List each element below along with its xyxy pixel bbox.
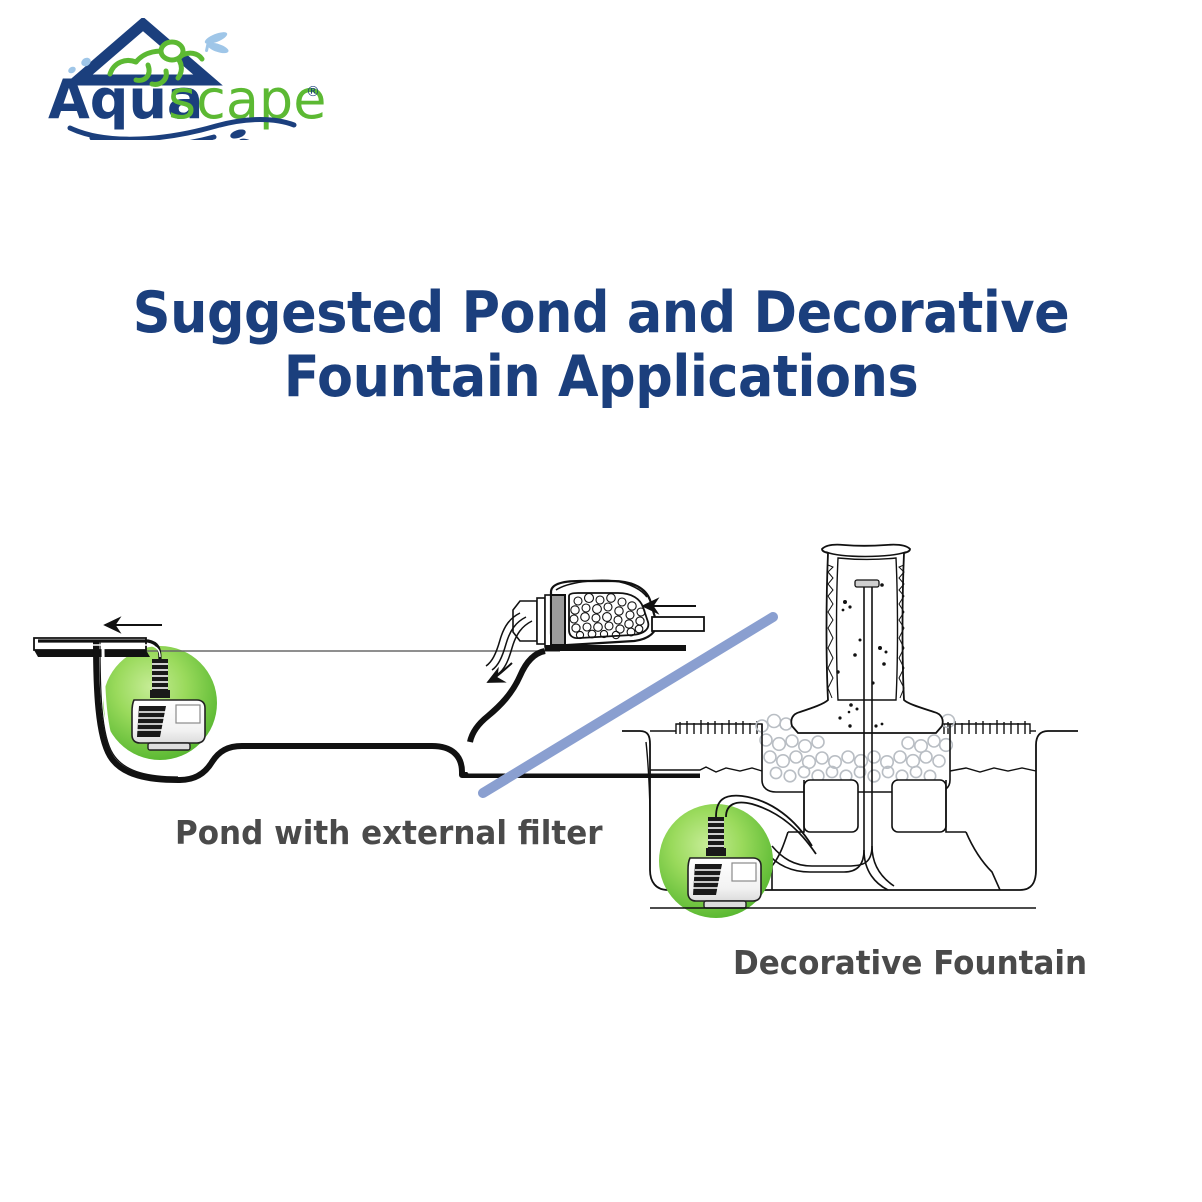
pump-outlet-collar <box>706 817 726 856</box>
grass-edging-left <box>650 720 762 734</box>
flow-arrow-filter-outflow <box>488 663 512 682</box>
column-inner-cavity <box>837 558 898 700</box>
external-pressure-filter <box>513 580 686 651</box>
diagram-pond-external-filter <box>34 580 704 780</box>
decorative-stone-column <box>791 545 942 733</box>
filter-end-cap <box>551 595 565 645</box>
filter-inlet-pipe <box>652 617 704 631</box>
pump-base-foot <box>704 901 746 908</box>
pump-base-foot <box>148 743 190 750</box>
pump-label-panel <box>732 863 756 881</box>
poster-canvas: Aqua scape ® Suggested Pond and Decorati… <box>0 0 1202 1202</box>
diagonal-separator <box>483 617 773 793</box>
support-block-left <box>804 780 858 832</box>
support-blocks <box>804 780 946 832</box>
diagram-decorative-fountain <box>622 545 1078 918</box>
pump-outlet-collar <box>150 659 170 698</box>
illustration-canvas <box>0 0 1202 1202</box>
riser-cap <box>855 580 879 587</box>
support-block-right <box>892 780 946 832</box>
caption-decorative-fountain: Decorative Fountain <box>733 943 1087 983</box>
pump-label-panel <box>176 705 200 723</box>
caption-pond-with-external-filter: Pond with external filter <box>175 813 603 853</box>
grass-edging-right <box>944 720 1036 734</box>
filter-support-shelf <box>545 645 686 651</box>
